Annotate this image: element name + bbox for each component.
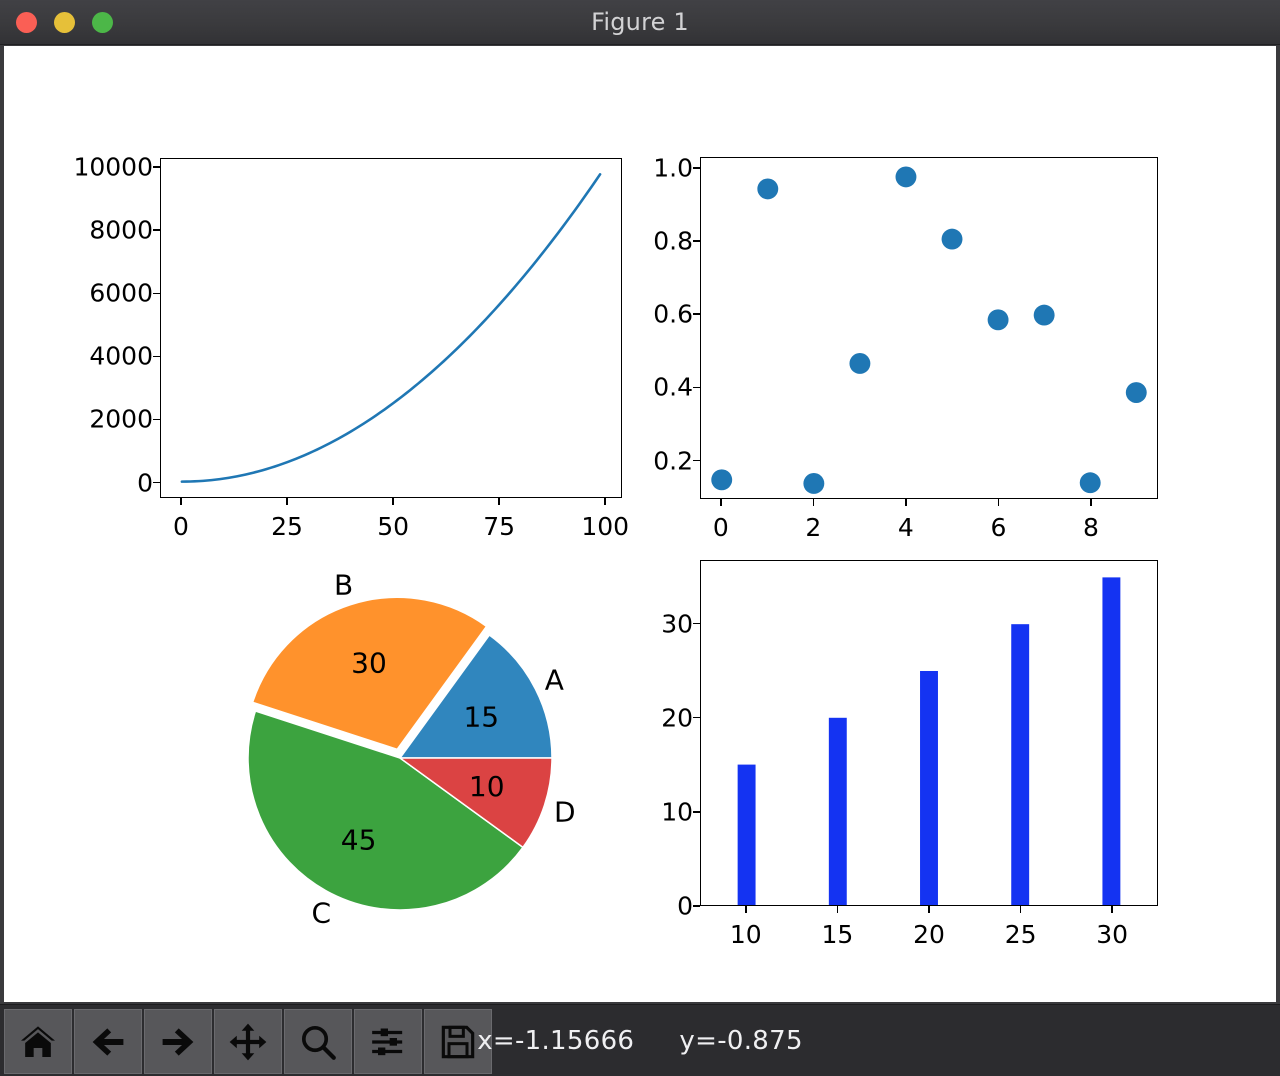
scatter-point-5 <box>942 229 963 250</box>
scatter-ytick-mark-3 <box>693 240 700 242</box>
bar-ytick-mark-3 <box>693 623 700 625</box>
pie-value-B: 30 <box>351 647 387 680</box>
zoom-button[interactable] <box>284 1009 352 1074</box>
bar-xtick-label-2: 20 <box>913 920 945 949</box>
scatter-chart-plot <box>701 158 1157 498</box>
bar-chart-plot <box>701 561 1157 905</box>
back-button[interactable] <box>74 1009 142 1074</box>
bar-xtick-label-0: 10 <box>730 920 762 949</box>
line-ytick-label-3: 6000 <box>8 279 153 308</box>
pie-value-A: 15 <box>463 701 499 734</box>
bar-ytick-label-3: 30 <box>630 609 693 638</box>
line-xtick-mark-3 <box>498 498 500 505</box>
bar-10 <box>738 765 756 905</box>
pie-value-D: 10 <box>469 770 505 803</box>
line-xtick-label-0: 0 <box>173 512 189 541</box>
scatter-ytick-mark-0 <box>693 460 700 462</box>
line-ytick-mark-4 <box>153 229 160 231</box>
scatter-ytick-mark-4 <box>693 167 700 169</box>
forward-button[interactable] <box>144 1009 212 1074</box>
line-xtick-label-2: 50 <box>377 512 409 541</box>
line-chart-axes[interactable] <box>160 158 622 498</box>
bar-xtick-mark-4 <box>1111 906 1113 913</box>
scatter-point-7 <box>1034 305 1055 326</box>
line-xtick-label-4: 100 <box>581 512 629 541</box>
scatter-point-1 <box>757 178 778 199</box>
line-chart-plot <box>161 159 621 497</box>
scatter-point-6 <box>988 309 1009 330</box>
scatter-point-4 <box>896 166 917 187</box>
bar-ytick-label-2: 20 <box>630 703 693 732</box>
line-ytick-mark-2 <box>153 356 160 358</box>
window-title: Figure 1 <box>0 0 1280 45</box>
bar-25 <box>1011 624 1029 905</box>
scatter-xtick-mark-2 <box>905 499 907 506</box>
scatter-point-2 <box>803 473 824 494</box>
scatter-ytick-label-1: 0.4 <box>600 373 693 402</box>
scatter-ytick-label-4: 1.0 <box>600 153 693 182</box>
line-ytick-mark-3 <box>153 293 160 295</box>
line-ytick-label-4: 8000 <box>8 216 153 245</box>
bar-xtick-label-4: 30 <box>1096 920 1128 949</box>
pie-label-C: C <box>312 896 332 929</box>
scatter-xtick-mark-1 <box>813 499 815 506</box>
line-xtick-mark-4 <box>604 498 606 505</box>
pie-label-A: A <box>545 663 564 696</box>
configure-sliders-icon <box>368 1022 408 1062</box>
line-ytick-label-0: 0 <box>8 468 153 497</box>
home-button[interactable] <box>4 1009 72 1074</box>
coordinate-x: x=-1.15666 <box>477 1026 634 1056</box>
scatter-point-3 <box>849 353 870 374</box>
bar-xtick-mark-3 <box>1020 906 1022 913</box>
bar-ytick-mark-0 <box>693 905 700 907</box>
line-ytick-label-5: 10000 <box>8 153 153 182</box>
pie-chart-plot: 15A30B45C10D <box>200 546 640 966</box>
coordinate-y: y=-0.875 <box>679 1026 802 1056</box>
pan-button[interactable] <box>214 1009 282 1074</box>
pie-value-C: 45 <box>341 823 377 856</box>
figure-window: Figure 1 0200040006000800010000025507510… <box>0 0 1280 1076</box>
bar-ytick-mark-1 <box>693 811 700 813</box>
line-ytick-mark-5 <box>153 166 160 168</box>
line-series-x-squared <box>182 174 600 481</box>
line-xtick-label-3: 75 <box>483 512 515 541</box>
pie-label-D: D <box>554 796 576 829</box>
scatter-ytick-mark-1 <box>693 387 700 389</box>
scatter-ytick-mark-2 <box>693 313 700 315</box>
navigation-toolbar: x=-1.15666 y=-0.875 <box>0 1004 1280 1076</box>
figure-canvas[interactable]: 02000400060008000100000255075100 0.20.40… <box>4 46 1276 1002</box>
line-xtick-mark-2 <box>392 498 394 505</box>
toolbar-button-group <box>4 1009 492 1074</box>
bar-xtick-label-1: 15 <box>821 920 853 949</box>
home-icon <box>18 1022 58 1062</box>
scatter-xtick-label-3: 6 <box>990 513 1006 542</box>
scatter-xtick-label-1: 2 <box>805 513 821 542</box>
save-floppy-icon <box>438 1022 478 1062</box>
scatter-xtick-label-4: 8 <box>1083 513 1099 542</box>
line-xtick-mark-0 <box>180 498 182 505</box>
scatter-xtick-mark-3 <box>998 499 1000 506</box>
forward-arrow-icon <box>157 1021 199 1063</box>
scatter-point-9 <box>1126 382 1147 403</box>
scatter-chart-axes[interactable] <box>700 157 1158 499</box>
bar-ytick-mark-2 <box>693 717 700 719</box>
line-ytick-label-1: 2000 <box>8 405 153 434</box>
pie-chart-axes[interactable]: 15A30B45C10D <box>200 546 640 966</box>
save-button[interactable] <box>424 1009 492 1074</box>
bar-20 <box>920 671 938 905</box>
title-bar: Figure 1 <box>0 0 1280 45</box>
pie-label-B: B <box>334 569 353 602</box>
scatter-ytick-label-0: 0.2 <box>600 446 693 475</box>
zoom-magnifier-icon <box>297 1021 339 1063</box>
bar-ytick-label-0: 0 <box>630 892 693 921</box>
pan-move-icon <box>227 1021 269 1063</box>
bar-30 <box>1102 577 1120 905</box>
scatter-xtick-mark-4 <box>1090 499 1092 506</box>
line-ytick-label-2: 4000 <box>8 342 153 371</box>
bar-chart-axes[interactable] <box>700 560 1158 906</box>
bar-xtick-mark-2 <box>928 906 930 913</box>
scatter-ytick-label-2: 0.6 <box>600 300 693 329</box>
bar-xtick-mark-0 <box>745 906 747 913</box>
bar-xtick-label-3: 25 <box>1005 920 1037 949</box>
bar-ytick-label-1: 10 <box>630 797 693 826</box>
bar-xtick-mark-1 <box>837 906 839 913</box>
line-xtick-mark-1 <box>286 498 288 505</box>
line-xtick-label-1: 25 <box>271 512 303 541</box>
back-arrow-icon <box>87 1021 129 1063</box>
scatter-point-8 <box>1080 472 1101 493</box>
scatter-point-0 <box>711 469 732 490</box>
configure-subplots-button[interactable] <box>354 1009 422 1074</box>
scatter-xtick-mark-0 <box>720 499 722 506</box>
scatter-xtick-label-2: 4 <box>898 513 914 542</box>
bar-15 <box>829 718 847 905</box>
scatter-xtick-label-0: 0 <box>713 513 729 542</box>
line-ytick-mark-0 <box>153 482 160 484</box>
scatter-ytick-label-3: 0.8 <box>600 227 693 256</box>
line-ytick-mark-1 <box>153 419 160 421</box>
